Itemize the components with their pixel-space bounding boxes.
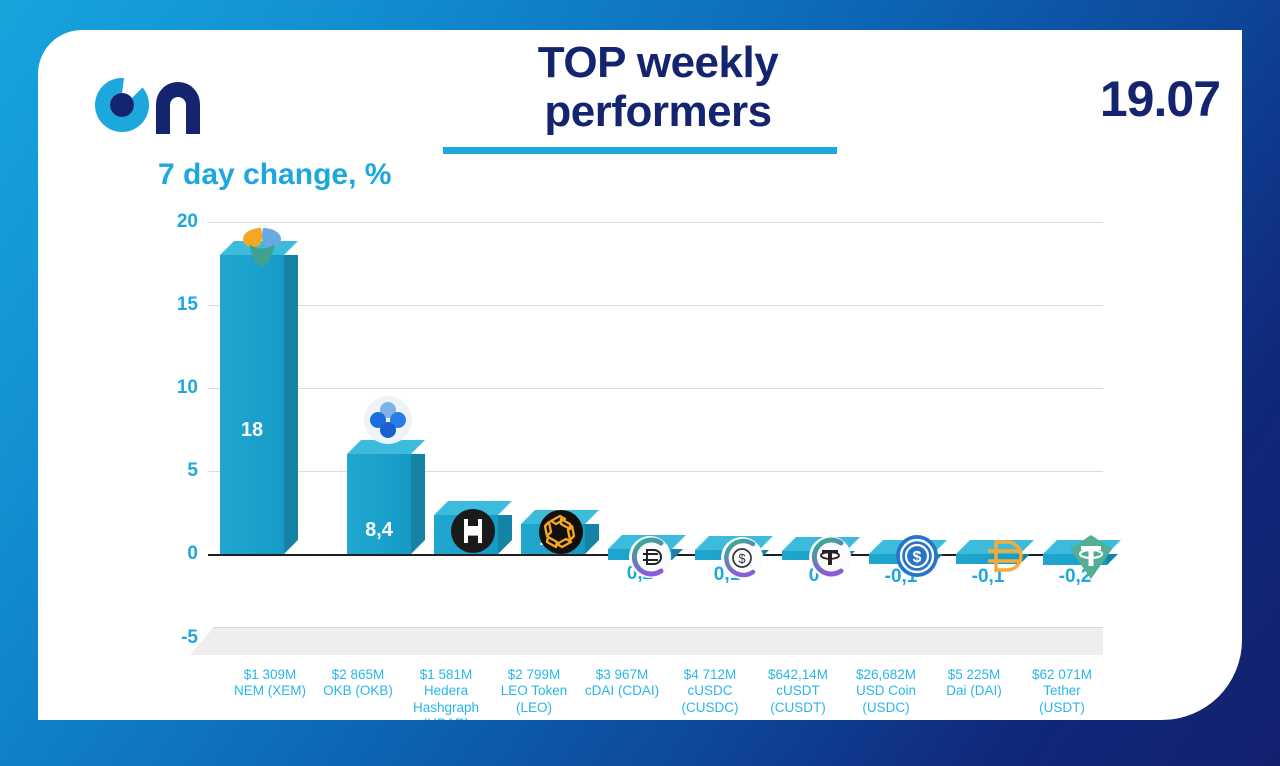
cusdc-icon: $ — [720, 536, 764, 585]
y-tick-20: 20 — [138, 211, 198, 233]
chart-floor-plane — [190, 627, 1103, 655]
svg-text:$: $ — [738, 551, 746, 566]
bar-okb-front — [347, 454, 411, 554]
slide-card: TOP weekly performers 19.07 7 day change… — [38, 30, 1242, 720]
y-tick-0: 0 — [138, 543, 198, 565]
bar-nem-front — [220, 255, 284, 554]
xlabel-usdc-line2: (USDC) — [830, 700, 942, 716]
gridline-5 — [208, 471, 1103, 472]
okb-icon — [363, 395, 413, 450]
bar-nem-side — [284, 255, 298, 554]
gridline-10 — [208, 388, 1103, 389]
bar-nem[interactable]: 18 — [220, 255, 284, 554]
xlabel-leo-line2: (LEO) — [478, 700, 590, 716]
nem-icon — [238, 225, 286, 274]
y-tick-neg5: -5 — [138, 627, 198, 649]
gridline-15 — [208, 305, 1103, 306]
cusdt-icon — [808, 535, 852, 584]
xlabel-tether-line2: (USDT) — [1006, 700, 1118, 716]
svg-text:$: $ — [913, 549, 922, 566]
xlabel-tether: $62 071M Tether (USDT) — [1006, 667, 1118, 716]
bar-chart: 20 15 10 5 0 -5 18 8,4 — [38, 30, 1242, 720]
bar-leo-side — [585, 524, 599, 554]
dai-icon — [981, 533, 1029, 584]
tether-icon — [1068, 533, 1114, 586]
bar-okb-side — [411, 454, 425, 554]
gridline-20 — [208, 222, 1103, 223]
xlabel-tether-line1: Tether — [1006, 683, 1118, 699]
xlabel-hedera-line3: (HBAR) — [390, 716, 502, 720]
hedera-icon — [450, 508, 496, 559]
usdc-icon: $ — [894, 533, 940, 584]
cdai-icon — [628, 535, 672, 584]
y-tick-10: 10 — [138, 377, 198, 399]
xlabel-tether-cap: $62 071M — [1006, 667, 1118, 683]
bar-hedera-side — [498, 515, 512, 554]
y-tick-5: 5 — [138, 460, 198, 482]
y-tick-15: 15 — [138, 294, 198, 316]
leo-icon — [538, 509, 584, 560]
bar-okb[interactable]: 8,4 — [347, 454, 411, 554]
